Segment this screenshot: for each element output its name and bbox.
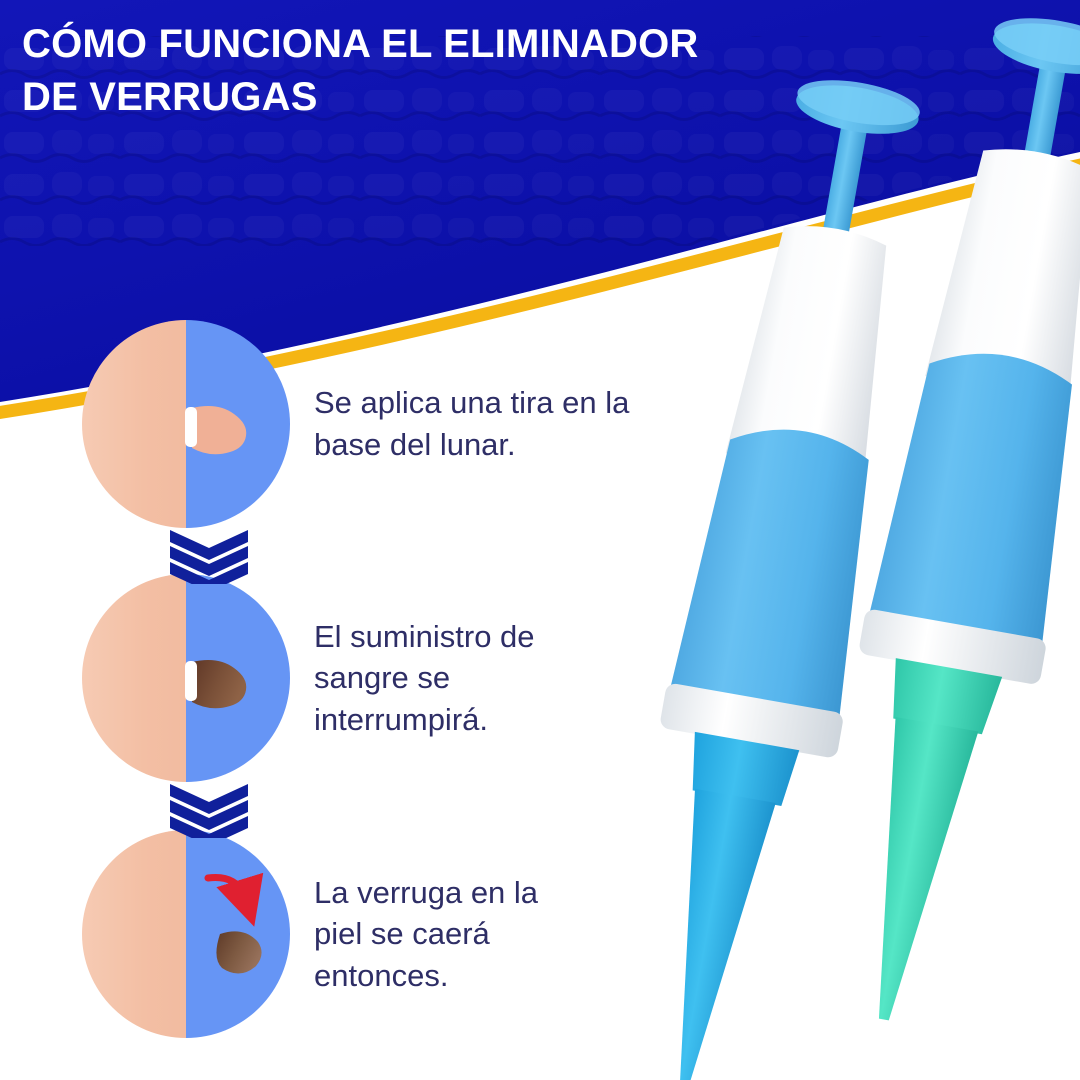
step-text-1: Se aplica una tira en la base del lunar.: [314, 382, 629, 465]
skin-half-2: [80, 572, 186, 784]
skin-half-3: [80, 828, 186, 1040]
skin-circle-mole-darkened-icon: [80, 572, 292, 784]
chevron-down-group-2: [166, 782, 252, 838]
skin-circle-wart-fallen-icon: [80, 828, 292, 1040]
step-figure-1: [80, 318, 292, 530]
grip-right: [866, 340, 1080, 662]
step-text-3: La verruga en la piel se caerá entonces.: [314, 872, 538, 997]
step-item-3: La verruga en la piel se caerá entonces.: [0, 828, 660, 1040]
step-figure-2: [80, 572, 292, 784]
page-title: CÓMO FUNCIONA EL ELIMINADOR DE VERRUGAS: [22, 18, 722, 124]
chevron-down-group-1: [166, 528, 252, 584]
needle-tip-right: [843, 717, 978, 1027]
skin-circle-mole-with-strip-icon: [80, 318, 292, 530]
step-item-1: Se aplica una tira en la base del lunar.: [0, 318, 660, 530]
steps-list: Se aplica una tira en la base del lunar.: [0, 300, 660, 1080]
grip-left: [667, 416, 887, 733]
step-item-2: El suministro de sangre se interrumpirá.: [0, 572, 660, 784]
needle-tip-left: [645, 789, 776, 1080]
step-text-2: El suministro de sangre se interrumpirá.: [314, 616, 535, 741]
poster-root: CÓMO FUNCIONA EL ELIMINADOR DE VERRUGAS: [0, 0, 1080, 1080]
skin-half-1: [80, 318, 186, 530]
strip-band-2: [185, 661, 197, 701]
step-figure-3: [80, 828, 292, 1040]
strip-band-1: [185, 407, 197, 447]
